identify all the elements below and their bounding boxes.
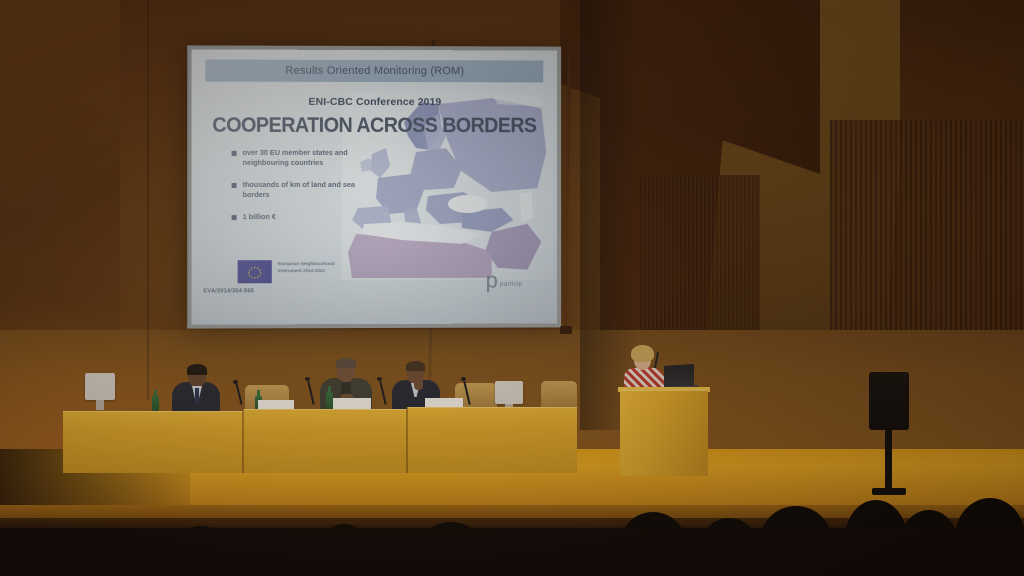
table-seam (242, 409, 244, 473)
particip-wordmark: particip (500, 280, 522, 287)
particip-logo: p particip (486, 272, 523, 290)
wall-seam (147, 0, 149, 400)
microphone-icon (461, 377, 466, 381)
particip-p-mark: p (486, 272, 498, 290)
loudspeaker-stand (885, 430, 892, 492)
list-item: thousands of km of land and sea borders (232, 180, 382, 201)
eu-instrument-caption: European Neighbourhood Instrument 2014-2… (278, 261, 348, 275)
list-item: over 30 EU member states and neighbourin… (232, 148, 382, 169)
projected-slide: Results Oriented Monitoring (ROM) ENI-CB… (191, 49, 557, 324)
slide-header-text: Results Oriented Monitoring (ROM) (285, 65, 464, 77)
slide-title: COOPERATION ACROSS BORDERS (202, 114, 546, 138)
panelist-center-hair (336, 358, 356, 368)
corner-shadow (580, 0, 640, 430)
panel-table-segment (407, 407, 577, 473)
eu-flag-icon (238, 260, 272, 283)
microphone-icon (377, 377, 382, 381)
audience-silhouettes (0, 498, 1024, 576)
screen-cable-anchor (560, 326, 572, 334)
slide-subtitle: ENI-CBC Conference 2019 (191, 96, 557, 109)
microphone-icon (233, 380, 238, 384)
chair (541, 381, 577, 407)
bullet-square-icon (232, 151, 237, 156)
list-item: 1 billion € (232, 212, 382, 223)
loudspeaker (869, 372, 909, 430)
panelist-right-hand (414, 378, 423, 390)
water-bottle (326, 392, 333, 410)
bullet-square-icon (232, 215, 237, 220)
loudspeaker-base (872, 488, 906, 495)
panel-table-segment (243, 409, 407, 473)
panelist-left-tie (195, 388, 199, 403)
slide-header-band: Results Oriented Monitoring (ROM) (205, 59, 543, 82)
bullet-square-icon (232, 183, 237, 188)
lectern (620, 390, 708, 476)
audience-foreground-mass (0, 528, 1024, 576)
table-seam (406, 407, 408, 473)
table-monitor (85, 373, 115, 400)
water-bottle (152, 396, 159, 412)
slide-reference-code: EVA/2014/354-565 (203, 288, 254, 294)
conference-photo-scene: Results Oriented Monitoring (ROM) ENI-CB… (0, 0, 1024, 576)
table-monitor (495, 381, 523, 404)
microphone-icon (305, 377, 310, 381)
slide-bullet-list: over 30 EU member states and neighbourin… (232, 148, 382, 233)
glasses-icon (188, 372, 206, 377)
bullet-text: over 30 EU member states and neighbourin… (243, 148, 382, 169)
panel-table-segment (63, 411, 243, 473)
bullet-text: thousands of km of land and sea borders (243, 180, 382, 201)
monitor-stand (96, 400, 104, 410)
bullet-text: 1 billion € (243, 212, 276, 222)
panelist-right-hair (406, 361, 425, 371)
presenter-hair (631, 345, 654, 362)
